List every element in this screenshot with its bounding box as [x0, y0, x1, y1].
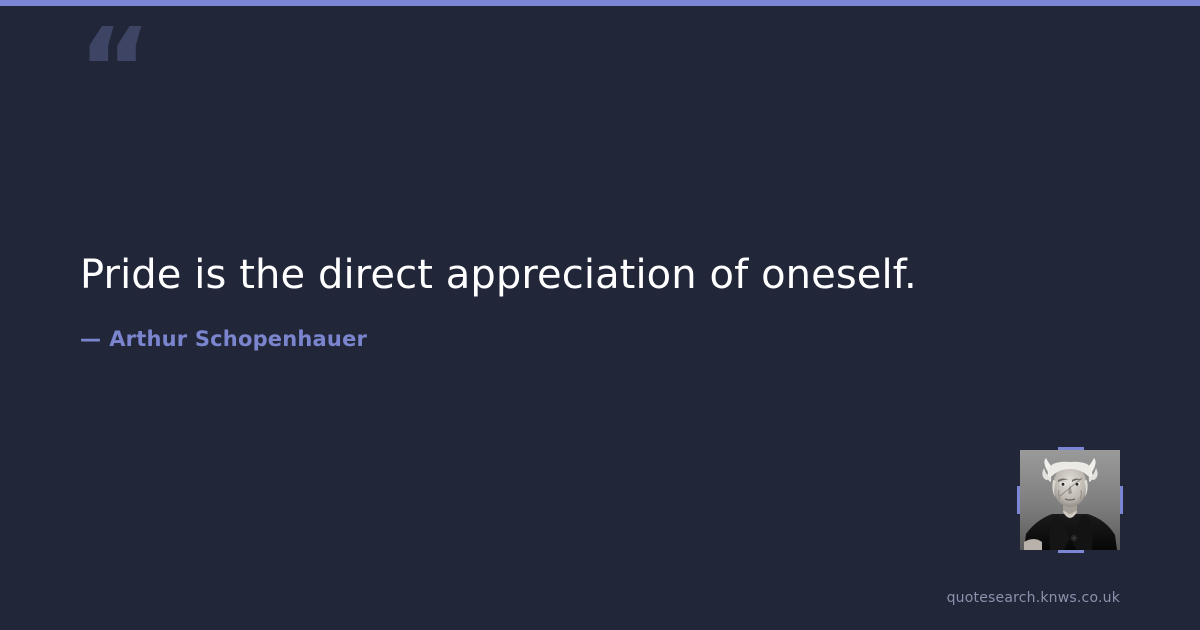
opening-quote-mark-icon: “: [78, 14, 150, 126]
quote-author-name: Arthur Schopenhauer: [109, 327, 367, 351]
top-accent-bar: [0, 0, 1200, 6]
attribution-dash: —: [80, 327, 101, 351]
quote-text: Pride is the direct appreciation of ones…: [80, 250, 1040, 301]
portrait-accent-tick-left: [1017, 486, 1020, 514]
quote-body: Pride is the direct appreciation of ones…: [80, 250, 1040, 351]
footer-source-url: quotesearch.knws.co.uk: [947, 590, 1120, 606]
portrait-accent-tick-right: [1120, 486, 1123, 514]
portrait-accent-tick-bottom: [1058, 550, 1084, 553]
portrait-frame: [1020, 450, 1120, 550]
author-portrait: [1020, 450, 1120, 550]
portrait-accent-tick-top: [1058, 447, 1084, 450]
quote-card: “ Pride is the direct appreciation of on…: [0, 0, 1200, 630]
author-portrait-image: [1020, 450, 1120, 550]
quote-attribution: —Arthur Schopenhauer: [80, 327, 1040, 351]
